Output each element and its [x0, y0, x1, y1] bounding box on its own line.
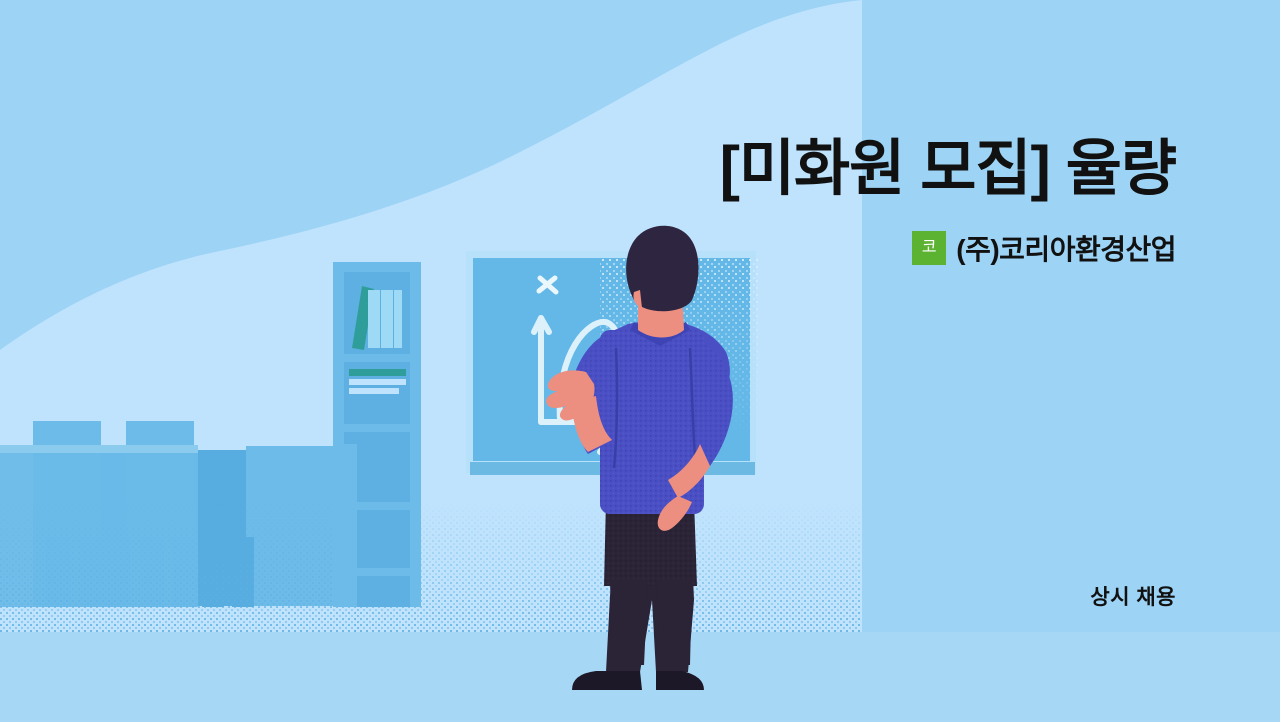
job-posting-poster: [미화원 모집] 율량 코 (주)코리아환경산업 상시 채용 [0, 0, 1280, 722]
company-name[interactable]: (주)코리아환경산업 [956, 228, 1176, 268]
books-second-shelf [349, 369, 406, 394]
office-scene-artwork [0, 0, 1280, 722]
company-badge-icon: 코 [912, 231, 946, 265]
bookshelf [333, 262, 421, 607]
shoe-right [656, 671, 704, 690]
hiring-type-label: 상시 채용 [1090, 581, 1176, 611]
floor-speckle-texture [0, 500, 860, 632]
page-title: [미화원 모집] 율량 [596, 136, 1176, 202]
company-row[interactable]: 코 (주)코리아환경산업 [912, 228, 1176, 268]
shoe-left [572, 671, 642, 690]
